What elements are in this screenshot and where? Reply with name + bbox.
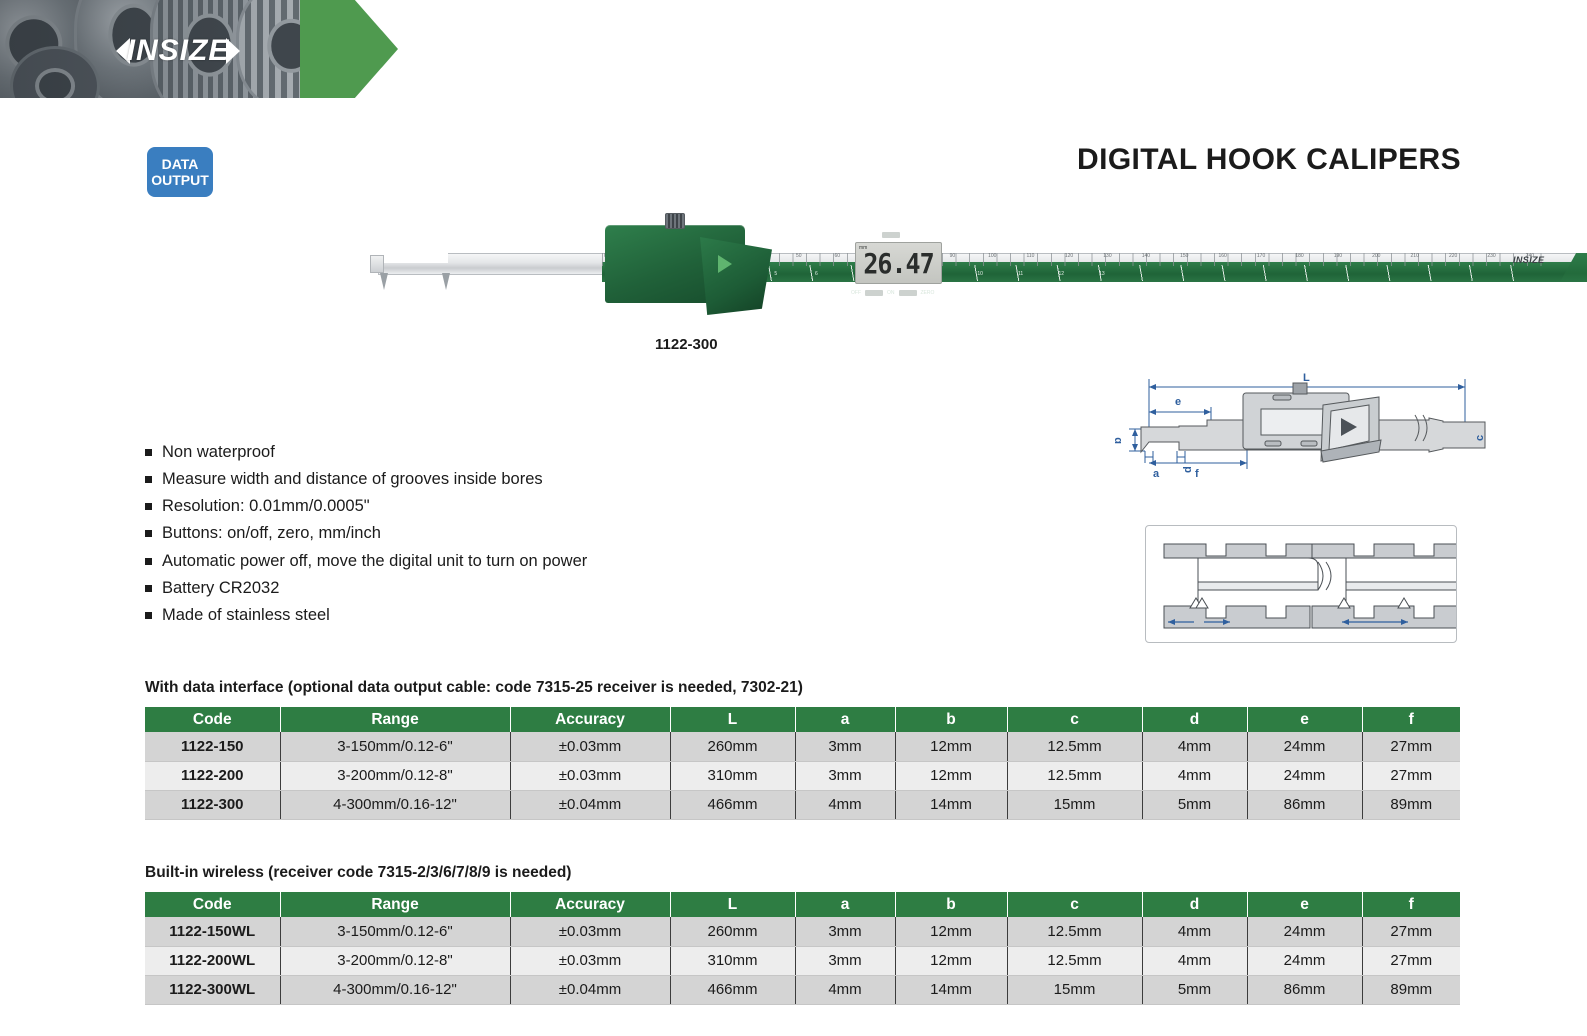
product-caption: 1122-300 <box>655 336 718 353</box>
badge-line-1: DATA <box>162 156 199 172</box>
column-header-range: Range <box>280 892 510 917</box>
column-header-accuracy: Accuracy <box>510 707 670 732</box>
bullet-square-icon <box>145 530 152 537</box>
zero-button[interactable] <box>899 290 917 296</box>
cell-l: 310mm <box>670 761 795 790</box>
cell-l: 310mm <box>670 946 795 975</box>
cell-code: 1122-300WL <box>145 975 280 1004</box>
arrow-right-icon <box>226 38 240 64</box>
feature-text: Battery CR2032 <box>162 578 279 599</box>
table-row: 1122-150WL3-150mm/0.12-6"±0.03mm260mm3mm… <box>145 917 1460 946</box>
bullet-square-icon <box>145 612 152 619</box>
fixed-jaw <box>370 255 384 273</box>
cell-b: 14mm <box>895 790 1007 819</box>
column-header-d: d <box>1142 707 1247 732</box>
column-header-code: Code <box>145 707 280 732</box>
bullet-square-icon <box>145 476 152 483</box>
dim-label-b: b <box>1115 437 1124 444</box>
lcd-display: mm 26.47 <box>855 242 942 284</box>
column-header-range: Range <box>280 707 510 732</box>
cell-code: 1122-150 <box>145 732 280 761</box>
cell-accuracy: ±0.03mm <box>510 917 670 946</box>
feature-text: Measure width and distance of grooves in… <box>162 469 543 490</box>
cell-code: 1122-200 <box>145 761 280 790</box>
cell-range: 4-300mm/0.16-12" <box>280 975 510 1004</box>
table-2-caption: Built-in wireless (receiver code 7315-2/… <box>145 864 571 882</box>
feature-item: Non waterproof <box>145 442 785 463</box>
off-button-label[interactable]: OFF <box>851 290 861 296</box>
product-photo: 0102030405060708090100110120130140150160… <box>370 225 1345 320</box>
cell-d: 4mm <box>1142 946 1247 975</box>
catalog-page: INSIZE DATA OUTPUT DIGITAL HOOK CALIPERS… <box>0 0 1587 1036</box>
dim-label-f: f <box>1195 468 1199 480</box>
column-header-l: L <box>670 892 795 917</box>
feature-item: Automatic power off, move the digital un… <box>145 551 785 572</box>
feature-item: Measure width and distance of grooves in… <box>145 469 785 490</box>
dim-label-L: L <box>1303 372 1310 384</box>
beam-brand-text: INSIZE <box>1513 255 1544 265</box>
table-row: 1122-1503-150mm/0.12-6"±0.03mm260mm3mm12… <box>145 732 1460 761</box>
thumb-roller <box>665 213 685 229</box>
spec-table-wireless: CodeRangeAccuracyLabcdef1122-150WL3-150m… <box>145 892 1460 1005</box>
data-output-badge: DATA OUTPUT <box>147 147 213 197</box>
cell-l: 260mm <box>670 917 795 946</box>
cell-f: 27mm <box>1362 946 1460 975</box>
triangle-icon <box>718 255 732 273</box>
feature-item: Battery CR2032 <box>145 578 785 599</box>
column-header-a: a <box>795 892 895 917</box>
cell-l: 466mm <box>670 790 795 819</box>
zero-button-label[interactable]: ZERO <box>921 290 935 296</box>
cell-f: 27mm <box>1362 732 1460 761</box>
cell-range: 4-300mm/0.16-12" <box>280 790 510 819</box>
column-header-l: L <box>670 707 795 732</box>
cell-f: 27mm <box>1362 761 1460 790</box>
cell-b: 12mm <box>895 946 1007 975</box>
cell-e: 24mm <box>1247 917 1362 946</box>
off-button[interactable] <box>865 290 883 296</box>
column-header-c: c <box>1007 892 1142 917</box>
cell-a: 4mm <box>795 790 895 819</box>
dim-label-a: a <box>1153 468 1160 480</box>
cell-accuracy: ±0.04mm <box>510 975 670 1004</box>
cell-d: 4mm <box>1142 761 1247 790</box>
cell-c: 15mm <box>1007 790 1142 819</box>
on-button-label[interactable]: ON <box>887 290 895 296</box>
cell-accuracy: ±0.04mm <box>510 790 670 819</box>
cell-a: 3mm <box>795 946 895 975</box>
column-header-a: a <box>795 707 895 732</box>
cell-f: 27mm <box>1362 917 1460 946</box>
table-row: 1122-3004-300mm/0.16-12"±0.04mm466mm4mm1… <box>145 790 1460 819</box>
cell-accuracy: ±0.03mm <box>510 946 670 975</box>
cell-d: 5mm <box>1142 975 1247 1004</box>
feature-list: Non waterproofMeasure width and distance… <box>145 442 785 632</box>
table-row: 1122-200WL3-200mm/0.12-8"±0.03mm310mm3mm… <box>145 946 1460 975</box>
spec-table-data-interface: CodeRangeAccuracyLabcdef1122-1503-150mm/… <box>145 707 1460 820</box>
column-header-e: e <box>1247 707 1362 732</box>
green-chevron <box>300 0 398 98</box>
column-header-d: d <box>1142 892 1247 917</box>
cell-e: 24mm <box>1247 732 1362 761</box>
cell-c: 12.5mm <box>1007 761 1142 790</box>
dim-label-c: c <box>1474 435 1486 441</box>
feature-text: Buttons: on/off, zero, mm/inch <box>162 523 381 544</box>
logo-text: INSIZE <box>127 34 230 68</box>
bullet-square-icon <box>145 449 152 456</box>
cell-d: 5mm <box>1142 790 1247 819</box>
cell-b: 12mm <box>895 732 1007 761</box>
feature-item: Buttons: on/off, zero, mm/inch <box>145 523 785 544</box>
feature-item: Made of stainless steel <box>145 605 785 626</box>
cell-c: 12.5mm <box>1007 732 1142 761</box>
bullet-square-icon <box>145 585 152 592</box>
badge-line-2: OUTPUT <box>151 172 209 188</box>
insize-logo: INSIZE <box>93 33 263 69</box>
table-1-caption: With data interface (optional data outpu… <box>145 679 803 697</box>
cell-a: 3mm <box>795 917 895 946</box>
column-header-b: b <box>895 707 1007 732</box>
cell-b: 12mm <box>895 917 1007 946</box>
cell-range: 3-150mm/0.12-6" <box>280 732 510 761</box>
cell-code: 1122-150WL <box>145 917 280 946</box>
bullet-square-icon <box>145 503 152 510</box>
cell-code: 1122-300 <box>145 790 280 819</box>
unit-wedge <box>700 237 772 315</box>
cell-range: 3-150mm/0.12-6" <box>280 917 510 946</box>
top-key-row <box>877 231 947 238</box>
table-row: 1122-300WL4-300mm/0.16-12"±0.04mm466mm4m… <box>145 975 1460 1004</box>
lcd-value: 26.47 <box>863 247 933 279</box>
hook-point-1 <box>380 273 388 290</box>
column-header-code: Code <box>145 892 280 917</box>
table-header-row: CodeRangeAccuracyLabcdef <box>145 892 1460 917</box>
cell-accuracy: ±0.03mm <box>510 732 670 761</box>
cell-d: 4mm <box>1142 917 1247 946</box>
cell-e: 24mm <box>1247 946 1362 975</box>
feature-text: Automatic power off, move the digital un… <box>162 551 587 572</box>
cell-accuracy: ±0.03mm <box>510 761 670 790</box>
dimension-diagram: L e b a d f c <box>1115 365 1515 480</box>
feature-text: Made of stainless steel <box>162 605 330 626</box>
cell-a: 3mm <box>795 732 895 761</box>
cell-l: 260mm <box>670 732 795 761</box>
cell-e: 24mm <box>1247 761 1362 790</box>
cell-a: 3mm <box>795 761 895 790</box>
column-header-b: b <box>895 892 1007 917</box>
column-header-f: f <box>1362 892 1460 917</box>
cell-c: 15mm <box>1007 975 1142 1004</box>
cell-c: 12.5mm <box>1007 946 1142 975</box>
cell-b: 14mm <box>895 975 1007 1004</box>
table-header-row: CodeRangeAccuracyLabcdef <box>145 707 1460 732</box>
cell-range: 3-200mm/0.12-8" <box>280 761 510 790</box>
bullet-square-icon <box>145 558 152 565</box>
dim-label-d: d <box>1182 466 1194 473</box>
column-header-f: f <box>1362 707 1460 732</box>
cell-f: 89mm <box>1362 975 1460 1004</box>
cell-c: 12.5mm <box>1007 917 1142 946</box>
button-row: OFF ON ZERO <box>851 288 961 297</box>
feature-text: Non waterproof <box>162 442 275 463</box>
cell-l: 466mm <box>670 975 795 1004</box>
page-title: DIGITAL HOOK CALIPERS <box>1077 143 1461 177</box>
application-diagram <box>1145 525 1457 643</box>
page-header: INSIZE <box>0 0 1587 98</box>
feature-item: Resolution: 0.01mm/0.0005" <box>145 496 785 517</box>
cell-f: 89mm <box>1362 790 1460 819</box>
column-header-e: e <box>1247 892 1362 917</box>
hook-point-2 <box>442 273 450 290</box>
cell-b: 12mm <box>895 761 1007 790</box>
cell-d: 4mm <box>1142 732 1247 761</box>
cell-code: 1122-200WL <box>145 946 280 975</box>
dim-label-e: e <box>1175 396 1181 408</box>
feature-text: Resolution: 0.01mm/0.0005" <box>162 496 370 517</box>
cell-a: 4mm <box>795 975 895 1004</box>
table-row: 1122-2003-200mm/0.12-8"±0.03mm310mm3mm12… <box>145 761 1460 790</box>
cell-range: 3-200mm/0.12-8" <box>280 946 510 975</box>
column-header-accuracy: Accuracy <box>510 892 670 917</box>
cell-e: 86mm <box>1247 975 1362 1004</box>
cell-e: 86mm <box>1247 790 1362 819</box>
column-header-c: c <box>1007 707 1142 732</box>
